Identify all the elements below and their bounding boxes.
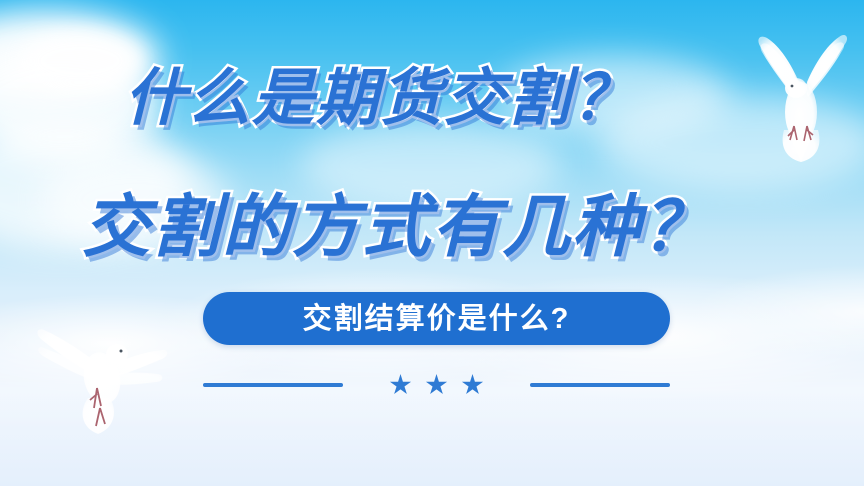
star-icon bbox=[462, 374, 484, 396]
star-icon bbox=[426, 374, 448, 396]
divider-line-right bbox=[530, 383, 670, 387]
headline-line-1: 什么是期货交割？ bbox=[124, 63, 636, 135]
divider-stars bbox=[390, 374, 484, 396]
headline-line-2: 交割的方式有几种？ bbox=[82, 187, 712, 267]
divider-line-left bbox=[203, 383, 343, 387]
dove-top-right-icon bbox=[744, 22, 860, 172]
poster-canvas: 什么是期货交割？ 交割的方式有几种？ 交割结算价是什么? bbox=[0, 0, 864, 486]
subtitle-pill-label: 交割结算价是什么? bbox=[303, 303, 571, 335]
star-icon bbox=[390, 374, 412, 396]
dove-bottom-left-icon bbox=[36, 316, 168, 442]
subtitle-pill[interactable]: 交割结算价是什么? bbox=[203, 292, 670, 345]
cloud-shape bbox=[20, 30, 140, 92]
divider bbox=[203, 372, 670, 398]
